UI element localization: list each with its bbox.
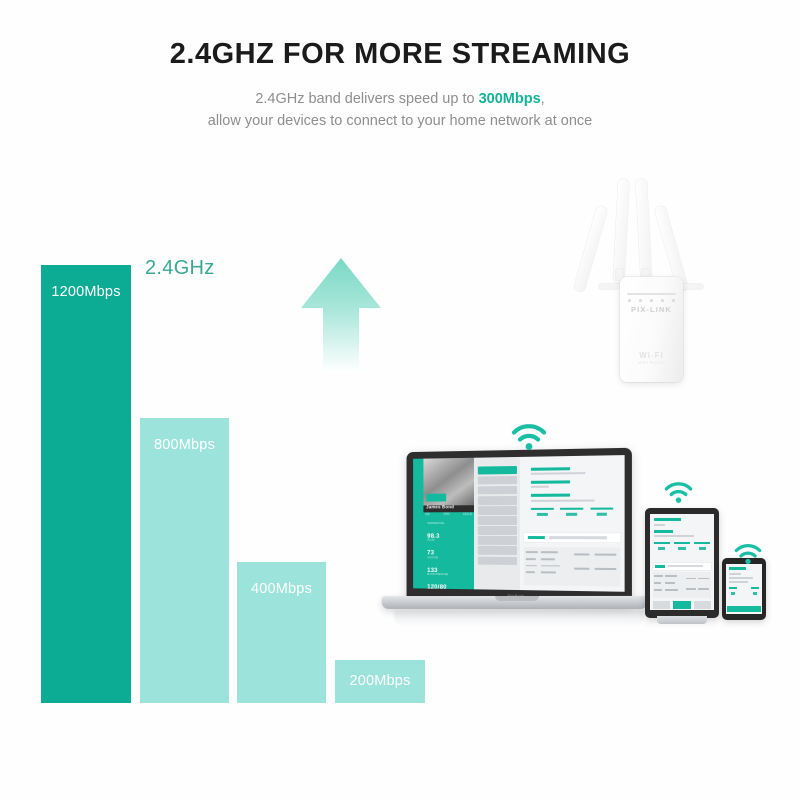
router-antenna-base-outer-left — [599, 284, 621, 289]
table-row — [665, 575, 677, 577]
section-heading — [531, 494, 570, 497]
tablet-screen — [650, 514, 714, 610]
dashboard-menu — [474, 457, 520, 590]
table-row — [574, 567, 589, 569]
bar-label-400mbps: 400Mbps — [237, 581, 326, 597]
table-row — [686, 588, 697, 590]
wifi-router-device: PIX-LINK Wi-Fi WiFi Router — [575, 165, 730, 390]
router-wifi-logo-text: Wi-Fi — [639, 351, 663, 360]
router-brand-label: PIX-LINK — [620, 305, 683, 314]
up-arrow-icon — [295, 250, 387, 372]
router-led — [639, 299, 642, 302]
consent-label — [674, 542, 690, 544]
vitals-tab-tpr[interactable]: TPR — [443, 512, 449, 516]
wifi-icon — [734, 543, 762, 565]
router-led — [628, 299, 631, 302]
dashboard-patient-panel: James Bond HR TPR HOLD TEMPERATURE 98.3 — [423, 458, 474, 590]
subtitle-line-1-pre: 2.4GHz band delivers speed up to — [255, 91, 478, 107]
section-heading — [654, 518, 681, 521]
section-heading — [654, 530, 673, 533]
diagnosis-text — [668, 565, 703, 567]
dashboard-content-phone — [726, 564, 762, 614]
router-wifi-caption: WiFi Router — [620, 360, 683, 365]
consent-living-will — [674, 542, 690, 550]
dashboard-rail — [413, 459, 423, 589]
laptop-reflection — [394, 610, 644, 626]
menu-item-physician-orders[interactable] — [478, 516, 517, 525]
details-table — [524, 547, 620, 586]
action-button-primary[interactable] — [727, 606, 760, 613]
router-led — [672, 299, 675, 302]
section-heading — [531, 467, 570, 471]
vital-temperature-label: TEMPERATURE — [427, 522, 472, 525]
tablet-device — [645, 508, 719, 630]
router-antenna-inner-left — [613, 179, 629, 283]
dashboard-content — [520, 455, 624, 592]
table-row — [526, 571, 534, 573]
wifi-signal-small — [734, 543, 762, 570]
subtitle-highlight: 300Mbps — [479, 91, 541, 107]
table-row — [686, 578, 697, 580]
section-special-instructions — [531, 493, 614, 501]
consent-value — [678, 547, 685, 550]
bar-200mbps: 200Mbps — [335, 660, 425, 703]
table-row — [541, 572, 556, 574]
details-table — [653, 572, 712, 599]
consent-label — [654, 542, 670, 544]
vitals-tab-hold[interactable]: HOLD — [463, 512, 472, 516]
bar-400mbps: 400Mbps — [237, 562, 326, 703]
dashboard-phone — [726, 564, 762, 614]
laptop-screen: James Bond HR TPR HOLD TEMPERATURE 98.3 — [413, 455, 625, 592]
section-body — [729, 573, 741, 575]
wifi-icon-dot — [676, 497, 681, 502]
growth-arrow — [295, 250, 387, 372]
section-body — [531, 486, 549, 488]
table-row — [665, 589, 678, 591]
consent-value — [658, 547, 665, 550]
bar-800mbps: 800Mbps — [140, 418, 229, 703]
menu-item-vital-stats[interactable] — [478, 496, 517, 505]
subtitle-line-1-post: , — [541, 91, 545, 107]
table-row — [595, 554, 616, 556]
dashboard-tablet — [650, 514, 714, 610]
subtitle-line-2: allow your devices to connect to your ho… — [0, 110, 800, 132]
bar-label-800mbps: 800Mbps — [140, 437, 229, 453]
dashboard-laptop: James Bond HR TPR HOLD TEMPERATURE 98.3 — [413, 455, 625, 592]
consent-medications — [694, 542, 710, 550]
consent-value — [699, 547, 706, 550]
bar-1200mbps: 1200Mbps — [41, 265, 131, 703]
section-body — [531, 499, 595, 501]
section-body — [729, 577, 753, 579]
menu-item-touch-charting[interactable] — [478, 556, 517, 565]
laptop-device: James Bond HR TPR HOLD TEMPERATURE 98.3 — [380, 450, 650, 625]
consent-row — [729, 587, 759, 595]
subtitle-line-1: 2.4GHz band delivers speed up to 300Mbps… — [0, 88, 800, 110]
wifi-icon — [664, 481, 693, 504]
diagnosis-badge — [655, 565, 666, 568]
section-food-allergies — [531, 480, 614, 488]
section-body — [654, 535, 695, 537]
router-antenna-outer-left — [573, 205, 608, 293]
router-antenna-inner-right — [636, 179, 652, 283]
section-food-allergies — [654, 518, 710, 526]
wifi-icon-dot — [526, 443, 533, 450]
menu-item-prescriptions[interactable] — [478, 506, 517, 515]
menu-item-allergies[interactable] — [478, 476, 517, 485]
consent-healthcare-proxy — [654, 542, 670, 550]
table-row — [526, 551, 537, 553]
consent-row — [531, 508, 614, 516]
bar-label-200mbps: 200Mbps — [335, 673, 425, 689]
table-row — [541, 551, 558, 553]
wifi-signal-medium — [664, 481, 693, 509]
action-button-right[interactable] — [694, 601, 712, 609]
action-buttons — [727, 606, 760, 613]
table-row — [654, 575, 662, 577]
table-row — [526, 558, 535, 560]
table-row — [595, 568, 616, 570]
consent-value — [753, 592, 757, 595]
router-wifi-logo: Wi-Fi WiFi Router — [620, 351, 683, 365]
wifi-icon — [511, 423, 547, 451]
wifi-signal-large — [511, 423, 547, 456]
consent-living-will — [560, 508, 583, 516]
table-row — [654, 589, 662, 591]
vital-glucose-label: GLUCOSE — [427, 556, 472, 559]
router-status-leds — [628, 299, 675, 303]
diagnosis-strip — [653, 563, 712, 570]
menu-item-daily-charting[interactable] — [478, 546, 517, 555]
consent-label — [531, 508, 554, 511]
wifi-icon-dot — [745, 559, 750, 564]
vitals-tabs: HR TPR HOLD — [425, 512, 472, 516]
consent-label — [729, 587, 737, 589]
laptop-lid: James Bond HR TPR HOLD TEMPERATURE 98.3 — [407, 448, 632, 605]
table-row — [574, 554, 589, 556]
section-body — [729, 581, 748, 583]
table-row — [654, 582, 661, 584]
menu-item-service-plans[interactable] — [478, 536, 517, 545]
consent-label — [590, 508, 613, 511]
consent-healthcare-proxy — [531, 508, 554, 516]
laptop-trackpad-notch — [495, 596, 539, 601]
router-led — [650, 299, 653, 302]
consent-row — [654, 542, 710, 550]
section-medicine-allergies — [531, 466, 614, 475]
patient-name: James Bond — [426, 504, 472, 509]
action-button-primary[interactable] — [673, 601, 691, 609]
table-row — [541, 558, 554, 560]
diagnosis-text — [549, 536, 607, 539]
laptop-base — [382, 596, 648, 609]
table-row — [526, 565, 536, 567]
menu-item-summary[interactable] — [478, 466, 517, 475]
diagnosis-badge — [528, 536, 545, 540]
bar-label-1200mbps: 1200Mbps — [41, 284, 131, 300]
page-subtitle: 2.4GHz band delivers speed up to 300Mbps… — [0, 88, 800, 132]
section-body — [531, 472, 585, 475]
router-vent-slot — [627, 293, 676, 295]
menu-item-height-weight[interactable] — [478, 486, 517, 495]
action-buttons — [653, 601, 712, 609]
router-led — [661, 299, 664, 302]
consent-value — [566, 513, 577, 516]
table-row — [698, 578, 709, 580]
section-heading — [531, 480, 570, 483]
consent-label — [751, 587, 759, 589]
tablet-body — [645, 508, 719, 618]
vitals-tab-hr[interactable]: HR — [425, 512, 430, 516]
consent-label — [694, 542, 710, 544]
consent-col — [729, 587, 737, 595]
dashboard-content-tablet — [650, 514, 714, 610]
page-title: 2.4GHZ FOR MORE STREAMING — [0, 38, 800, 71]
consent-value — [596, 513, 607, 516]
diagnosis-strip — [524, 533, 620, 543]
action-button-left[interactable] — [653, 601, 671, 609]
table-row — [698, 588, 709, 590]
menu-item-evaluations[interactable] — [478, 526, 517, 535]
patient-badge — [426, 493, 446, 501]
table-row — [541, 565, 560, 567]
table-row — [665, 582, 675, 584]
consent-value — [537, 513, 547, 516]
vital-pulse-label: PULSE — [427, 539, 472, 542]
promo-banner: 2.4GHZ FOR MORE STREAMING 2.4GHz band de… — [0, 0, 800, 800]
router-antenna-base-outer-right — [681, 284, 703, 289]
vital-blood-pressure-label: BLOOD PRESSURE — [427, 573, 472, 577]
consent-label — [560, 508, 583, 511]
consent-medications — [590, 508, 613, 516]
section-body — [654, 524, 665, 526]
section-special-instructions — [654, 530, 710, 538]
consent-value — [731, 592, 735, 595]
consent-col — [751, 587, 759, 595]
section-body-block — [729, 577, 759, 583]
phone-screen — [726, 564, 762, 614]
tablet-stand — [657, 616, 707, 624]
chart-band-label: 2.4GHz — [145, 257, 215, 280]
